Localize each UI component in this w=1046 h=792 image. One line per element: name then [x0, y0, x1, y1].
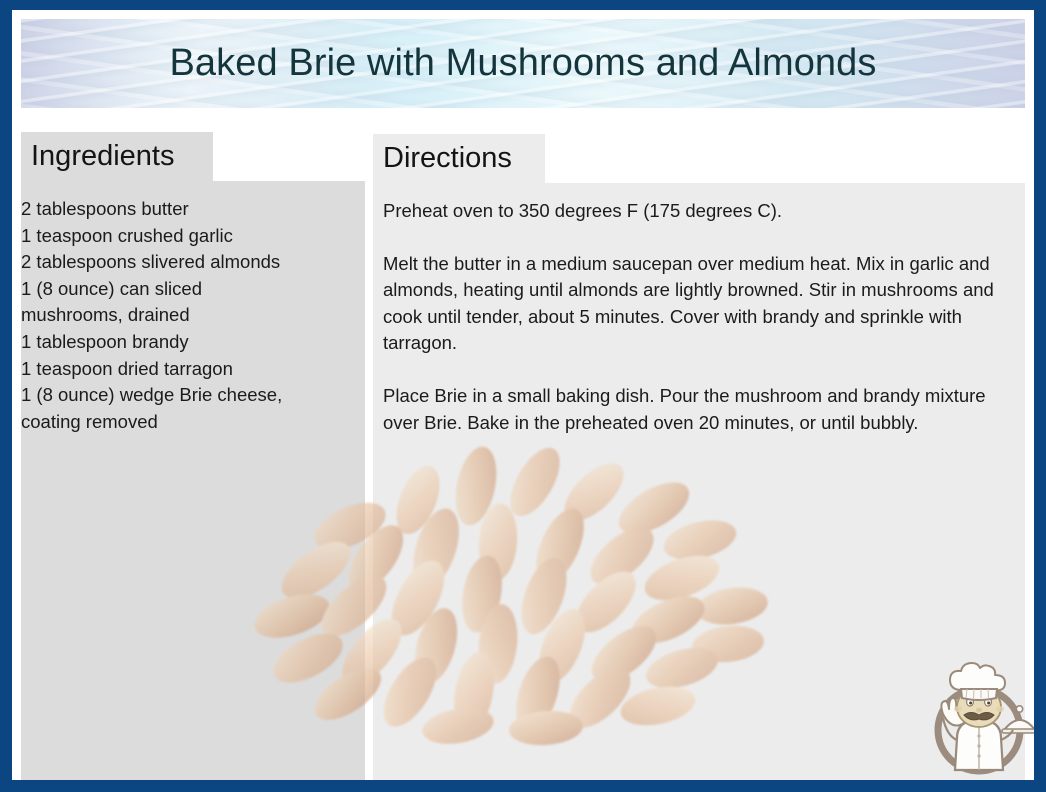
list-item: 1 teaspoon dried tarragon [21, 356, 351, 383]
list-item: 2 tablespoons slivered almonds [21, 249, 351, 276]
tab-ingredients[interactable]: Ingredients [21, 132, 213, 181]
title-banner: Baked Brie with Mushrooms and Almonds [21, 19, 1025, 108]
tab-directions[interactable]: Directions [373, 134, 545, 183]
direction-step: Melt the butter in a medium saucepan ove… [383, 251, 1013, 357]
list-item: 1 tablespoon brandy [21, 329, 351, 356]
list-item: 2 tablespoons butter [21, 196, 351, 223]
recipe-card: Baked Brie with Mushrooms and Almonds In… [0, 0, 1046, 792]
ingredients-list: 2 tablespoons butter 1 teaspoon crushed … [21, 196, 351, 435]
chef-logo [920, 652, 1034, 778]
direction-step: Place Brie in a small baking dish. Pour … [383, 383, 1013, 436]
list-item: 1 teaspoon crushed garlic [21, 223, 351, 250]
list-item: 1 (8 ounce) can sliced mushrooms, draine… [21, 276, 351, 329]
card-inner-surface: Baked Brie with Mushrooms and Almonds In… [12, 10, 1034, 780]
direction-step: Preheat oven to 350 degrees F (175 degre… [383, 198, 1013, 225]
directions-body: Preheat oven to 350 degrees F (175 degre… [383, 198, 1013, 436]
page-title: Baked Brie with Mushrooms and Almonds [169, 42, 876, 85]
cloche-icon [1002, 706, 1034, 733]
list-item: 1 (8 ounce) wedge Brie cheese, coating r… [21, 382, 351, 435]
